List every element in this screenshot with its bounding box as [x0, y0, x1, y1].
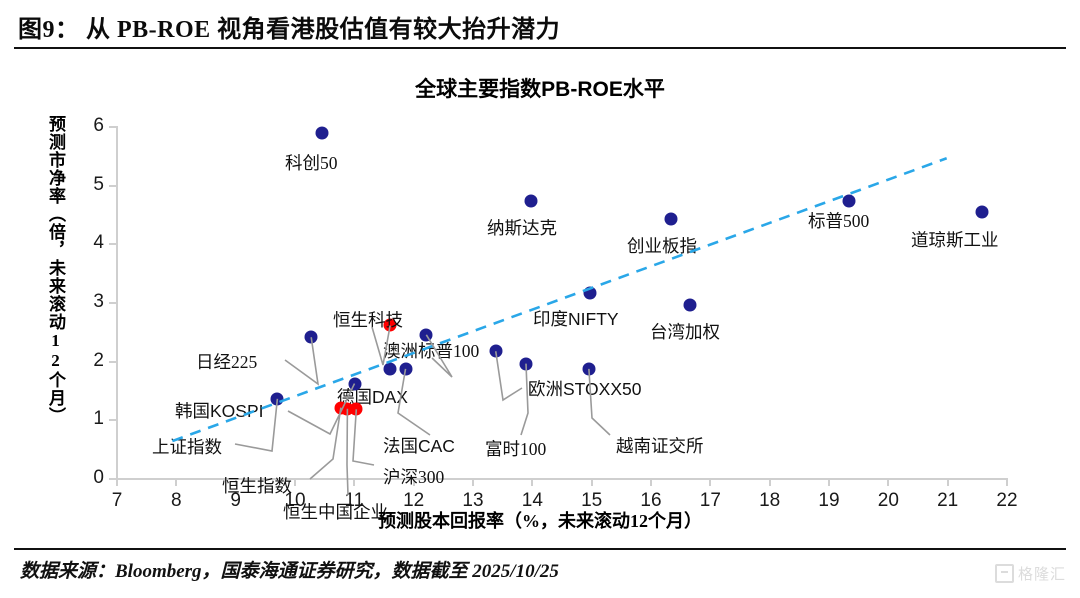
point-label: 富时100: [485, 441, 546, 459]
point-label: 纳斯达克: [487, 220, 557, 238]
point-label: 沪深300: [383, 469, 444, 487]
y-tick: [109, 126, 117, 128]
point-label: 韩国KOSPI: [175, 403, 264, 421]
y-tick: [109, 419, 117, 421]
point-label: 印度NIFTY: [533, 311, 619, 329]
data-point[interactable]: [305, 331, 318, 344]
data-point[interactable]: [976, 206, 989, 219]
x-tick: [828, 478, 830, 486]
source-note: 数据来源：Bloomberg，国泰海通证券研究，数据截至 2025/10/25: [20, 556, 559, 583]
y-tick-label: 1: [74, 408, 104, 430]
x-tick: [294, 478, 296, 486]
x-tick: [947, 478, 949, 486]
x-tick: [709, 478, 711, 486]
data-point[interactable]: [665, 213, 678, 226]
figure-caption: 图9： 从 PB-ROE 视角看港股估值有较大抬升潜力: [18, 9, 1062, 44]
data-point[interactable]: [584, 286, 597, 299]
y-tick: [109, 361, 117, 363]
data-point[interactable]: [519, 357, 532, 370]
y-tick: [109, 302, 117, 304]
scatter-plot: 012345678910111213141516171819202122科创50…: [0, 55, 1080, 545]
x-tick: [650, 478, 652, 486]
y-axis-title: 预测市净率（倍，未来滚动12个月）: [34, 115, 64, 425]
point-label: 恒生科技: [333, 312, 403, 330]
footer-divider: [14, 548, 1066, 550]
data-point[interactable]: [683, 298, 696, 311]
x-tick: [591, 478, 593, 486]
point-label: 道琼斯工业: [911, 232, 999, 250]
point-label: 澳洲标普100: [383, 343, 479, 361]
watermark-logo: 格隆汇: [995, 563, 1066, 584]
data-point[interactable]: [420, 328, 433, 341]
point-label: 上证指数: [152, 439, 222, 457]
point-label: 创业板指: [627, 238, 697, 256]
data-point[interactable]: [315, 127, 328, 140]
data-point[interactable]: [271, 392, 284, 405]
y-tick: [109, 185, 117, 187]
point-label: 台湾加权: [650, 324, 720, 342]
point-label: 法国CAC: [383, 438, 455, 456]
data-point[interactable]: [489, 345, 502, 358]
x-tick: [887, 478, 889, 486]
y-tick-label: 3: [74, 291, 104, 313]
data-point[interactable]: [341, 402, 354, 415]
point-label: 日经225: [196, 354, 257, 372]
y-tick-label: 0: [74, 467, 104, 489]
point-label: 欧洲STOXX50: [528, 381, 641, 399]
y-tick: [109, 243, 117, 245]
x-axis-title: 预测股本回报率（%，未来滚动12个月）: [0, 507, 1080, 533]
data-point[interactable]: [348, 377, 361, 390]
y-tick-label: 4: [74, 232, 104, 254]
point-label: 恒生指数: [222, 478, 292, 496]
x-tick: [472, 478, 474, 486]
watermark-icon: [995, 564, 1014, 583]
point-label: 标普500: [808, 213, 869, 231]
x-tick: [769, 478, 771, 486]
figure-container: 图9： 从 PB-ROE 视角看港股估值有较大抬升潜力 全球主要指数PB-ROE…: [0, 0, 1080, 598]
y-tick-label: 5: [74, 174, 104, 196]
data-point[interactable]: [399, 362, 412, 375]
point-label: 越南证交所: [616, 438, 704, 456]
x-tick: [531, 478, 533, 486]
x-tick: [1006, 478, 1008, 486]
x-tick: [116, 478, 118, 486]
y-tick-label: 6: [74, 115, 104, 137]
watermark-text: 格隆汇: [1018, 563, 1066, 584]
data-point[interactable]: [842, 195, 855, 208]
title-divider: [14, 47, 1066, 49]
point-label: 科创50: [285, 155, 338, 173]
data-point[interactable]: [582, 362, 595, 375]
x-tick: [353, 478, 355, 486]
data-point[interactable]: [384, 362, 397, 375]
x-tick: [175, 478, 177, 486]
y-tick-label: 2: [74, 350, 104, 372]
data-point[interactable]: [525, 195, 538, 208]
chart-area: 全球主要指数PB-ROE水平 0123456789101112131415161…: [0, 55, 1080, 545]
